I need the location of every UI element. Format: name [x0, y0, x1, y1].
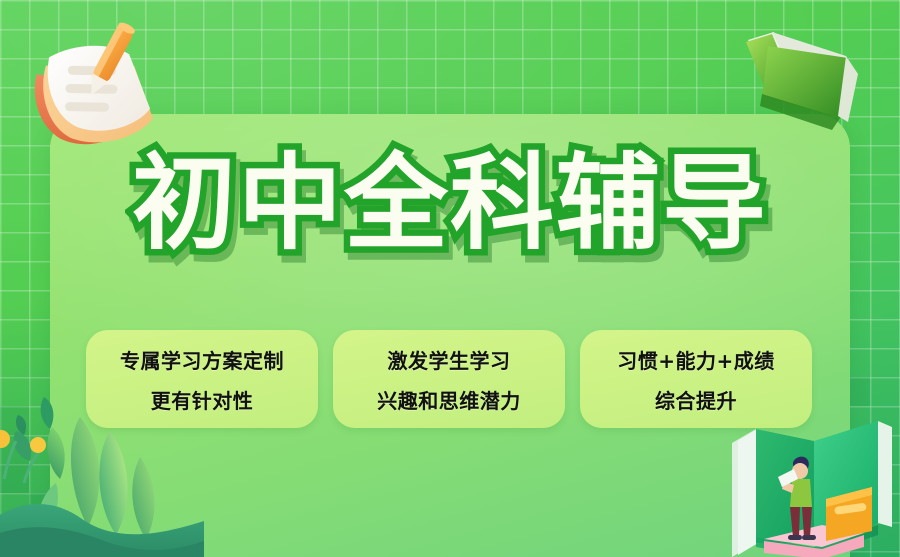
plants-icon	[0, 387, 204, 557]
page-title: 初中全科辅导	[132, 148, 768, 258]
feature-card-1-line1: 专属学习方案定制	[120, 345, 284, 374]
notebook-icon	[2, 11, 174, 164]
student-illustration	[722, 407, 900, 557]
headline-wrap: 初中全科辅导	[0, 148, 900, 258]
promo-banner: 初中全科辅导 专属学习方案定制 更有针对性 激发学生学习 兴趣和思维潜力 习惯+…	[0, 0, 900, 557]
feature-card-2-line1: 激发学生学习	[388, 345, 511, 374]
feature-card-3-line1: 习惯+能力+成绩	[617, 345, 775, 374]
feature-card-2[interactable]: 激发学生学习 兴趣和思维潜力	[333, 330, 565, 428]
feature-card-2-line2: 兴趣和思维潜力	[377, 385, 521, 414]
book-icon	[728, 26, 868, 146]
